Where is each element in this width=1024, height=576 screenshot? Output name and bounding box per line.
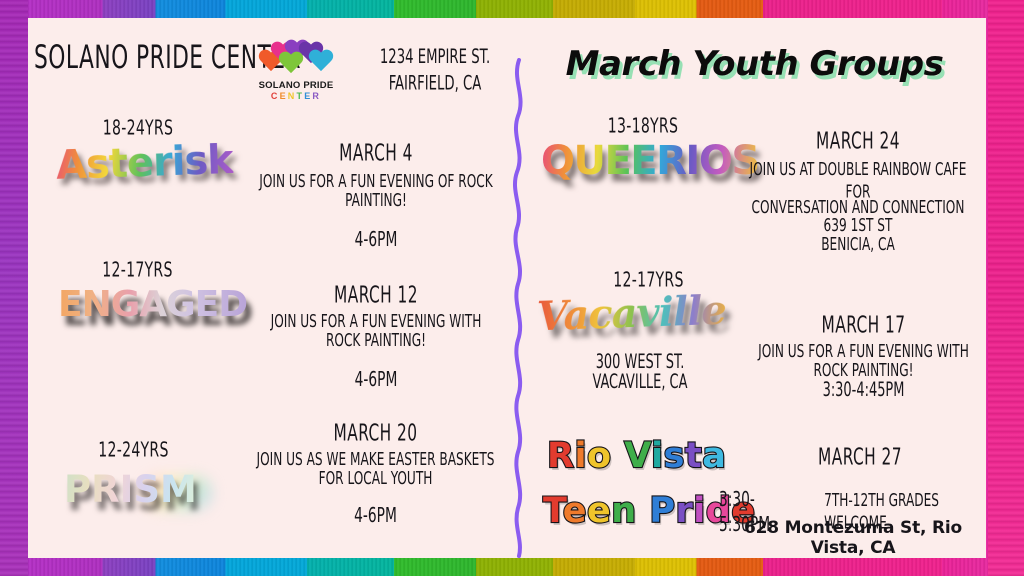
flyer-poster: SOLANO PRIDE CENTER SOLANO PRIDE CENTER …: [0, 0, 1024, 576]
border-left-purple: [0, 0, 28, 576]
logo-letter: P: [649, 491, 675, 531]
event-date: MARCH 4: [250, 140, 502, 166]
border-right-pink: [988, 0, 1024, 576]
logo-letter: V: [624, 436, 651, 476]
logo-letter: e: [563, 491, 587, 531]
group-ages-asterisk: 18-24YRS: [55, 116, 221, 140]
logo-letter: i: [651, 436, 664, 476]
rio-vista-address: 628 Montezuma St, Rio Vista, CA: [719, 518, 987, 558]
logo-name-bottom: CENTER: [256, 91, 336, 101]
event-desc-line-4: BENICIA, CA: [746, 233, 971, 256]
logo-letter: [612, 436, 625, 476]
event-date: MARCH 20: [243, 420, 509, 446]
event-march-12: MARCH 12 JOIN US FOR A FUN EVENING WITH …: [236, 282, 516, 389]
event-date: MARCH 27: [748, 444, 973, 470]
logo-hearts-icon: [256, 40, 336, 80]
vacaville-address: 300 WEST ST. VACAVILLE, CA: [545, 350, 735, 390]
logo-letter: E: [304, 91, 312, 101]
logo-letter: N: [288, 91, 297, 101]
event-march-27: MARCH 27: [735, 444, 985, 468]
logo-letter: i: [693, 491, 706, 531]
poster-card: SOLANO PRIDE CENTER SOLANO PRIDE CENTER …: [28, 18, 986, 558]
logo-letter: a: [702, 436, 726, 476]
group-logo-prism-wrap: PRISM: [58, 466, 233, 522]
org-address-line2: FAIRFIELD, CA: [357, 70, 513, 96]
org-address-line1: 1234 EMPIRE ST.: [357, 44, 513, 70]
logo-letter: T: [297, 91, 305, 101]
logo-letter: n: [611, 491, 636, 531]
group-logo-asterisk: Asterisk: [55, 137, 233, 189]
logo-letter: [637, 491, 650, 531]
group-logo-vacaville: Vacaville: [536, 287, 726, 341]
logo-letter: i: [574, 436, 587, 476]
event-date: MARCH 17: [753, 312, 974, 338]
event-march-4: MARCH 4 JOIN US FOR A FUN EVENING OF ROC…: [236, 140, 516, 249]
group-logo-prism: PRISM: [64, 468, 197, 511]
logo-letter: o: [587, 436, 612, 476]
event-time: 4-6PM: [250, 228, 502, 254]
group-logo-rio-vista: Rio Vista: [547, 436, 726, 476]
event-date: MARCH 24: [746, 128, 971, 154]
event-march-20: MARCH 20 JOIN US AS WE MAKE EASTER BASKE…: [228, 420, 523, 525]
solano-pride-center-logo: SOLANO PRIDE CENTER: [256, 40, 336, 100]
logo-name-top: SOLANO PRIDE: [256, 80, 336, 91]
logo-letter: C: [271, 91, 280, 101]
event-desc-line-2: FOR LOCAL YOUTH: [243, 467, 509, 490]
group-logo-engaged: ENGAGED: [58, 284, 247, 325]
group-logo-queerios: QUEERIOS: [541, 138, 759, 184]
logo-letter: r: [676, 491, 694, 531]
event-march-17: MARCH 17 JOIN US FOR A FUN EVENING WITH …: [741, 312, 986, 398]
page-title: March Youth Groups: [523, 44, 986, 84]
org-address: 1234 EMPIRE ST. FAIRFIELD, CA: [357, 44, 513, 96]
logo-letter: R: [547, 436, 574, 476]
group-ages-prism: 12-24YRS: [53, 438, 214, 462]
group-ages-queerios: 13-18YRS: [560, 114, 726, 138]
event-desc-line-2: PAINTING!: [250, 189, 502, 212]
vacaville-address-line2: VACAVILLE, CA: [555, 370, 726, 394]
logo-letter: R: [312, 91, 321, 101]
logo-letter: E: [280, 91, 288, 101]
right-column: March Youth Groups 13-18YRS QUEERIOS MAR…: [523, 18, 986, 558]
event-date: MARCH 12: [250, 282, 502, 308]
left-column: SOLANO PRIDE CENTER SOLANO PRIDE CENTER …: [28, 18, 523, 558]
event-march-24: MARCH 24 JOIN US AT DOUBLE RAINBOW CAFE …: [733, 128, 983, 252]
event-time: 3:30-4:45PM: [753, 378, 974, 402]
logo-letter: t: [685, 436, 702, 476]
event-time: 4-6PM: [250, 368, 502, 394]
logo-letter: s: [664, 436, 685, 476]
group-ages-engaged: 12-17YRS: [57, 258, 218, 282]
logo-letter: T: [543, 491, 563, 531]
event-time: 4-6PM: [243, 504, 509, 530]
logo-letter: e: [587, 491, 611, 531]
event-desc-line-2: ROCK PAINTING!: [250, 329, 502, 352]
